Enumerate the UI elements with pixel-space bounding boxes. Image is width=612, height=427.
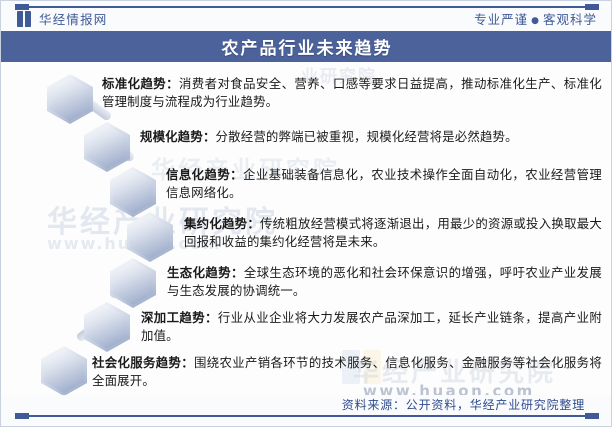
hexagon-node-7 <box>41 346 87 395</box>
slogan-right-text: 客观科学 <box>543 12 597 27</box>
book-logo-icon <box>17 11 32 27</box>
trend-item-deep-processing: 深加工趋势：行业从业企业将大力发展农产品深加工，延长产业链条，提高产业附加值。 <box>141 309 602 345</box>
page-title: 农产品行业未来趋势 <box>222 34 393 59</box>
footer-divider-line <box>29 415 585 417</box>
hexagon-node-2 <box>84 122 130 172</box>
trend-item-scale: 规模化趋势：分散经营的弊端已被重视，规模化经营将是必然趋势。 <box>140 128 602 146</box>
hexagon-node-1 <box>47 74 93 124</box>
trend-item-socialized-service: 社会化服务趋势：围绕农业产销各环节的技术服务、信息化服务、金融服务等社会化服务将… <box>92 354 602 390</box>
brand: 华经情报网 <box>17 9 108 28</box>
hexagon-node-3 <box>110 167 156 217</box>
bullet-dot-icon: ● <box>528 16 543 26</box>
trend-item-standardization: 标准化趋势：消费者对食品安全、营养、口感等要求日益提高，推动标准化生产、标准化管… <box>102 75 602 111</box>
hexagon-node-5 <box>110 258 156 308</box>
brand-name: 华经情报网 <box>39 9 108 28</box>
source-note: 资料来源：公开资料，华经产业研究院整理 <box>342 396 585 413</box>
infographic-page: 华经情报网 专业严谨●客观科学 农产品行业未来趋势 业研究院 华经产业研究院 华… <box>0 0 612 427</box>
trend-label: 深加工趋势： <box>141 310 218 325</box>
title-bar: 农产品行业未来趋势 <box>1 31 612 62</box>
trend-label: 社会化服务趋势： <box>92 355 194 370</box>
trend-item-informatization: 信息化趋势：企业基础装备信息化，农业技术操作全面自动化，农业经营管理信息网络化。 <box>166 166 602 202</box>
trend-label: 规模化趋势： <box>140 129 216 144</box>
header-slogan: 专业严谨●客观科学 <box>474 9 597 28</box>
content-area: 业研究院 华经产业研究院 华经产业研究院 www.huaon.com 华经产业研… <box>1 62 612 395</box>
page-header: 华经情报网 专业严谨●客观科学 <box>1 1 612 31</box>
slogan-left-text: 专业严谨 <box>474 12 528 27</box>
trend-label: 生态化趋势： <box>167 265 244 280</box>
trend-label: 信息化趋势： <box>166 167 243 182</box>
trend-item-ecologization: 生态化趋势：全球生态环境的恶化和社会环保意识的增强，呼吁农业产业发展与生态发展的… <box>167 264 602 300</box>
hexagon-node-6 <box>84 302 130 352</box>
header-divider-line <box>29 6 585 8</box>
trend-label: 集约化趋势： <box>184 216 260 231</box>
hexagon-node-4 <box>127 212 173 262</box>
trend-label: 标准化趋势： <box>102 76 179 91</box>
page-footer: 资料来源：公开资料，华经产业研究院整理 <box>1 395 612 427</box>
trend-item-intensification: 集约化趋势：传统粗放经营模式将逐渐退出，用最少的资源或投入换取最大回报和收益的集… <box>184 215 602 251</box>
trend-text: 分散经营的弊端已被重视，规模化经营将是必然趋势。 <box>216 129 518 144</box>
